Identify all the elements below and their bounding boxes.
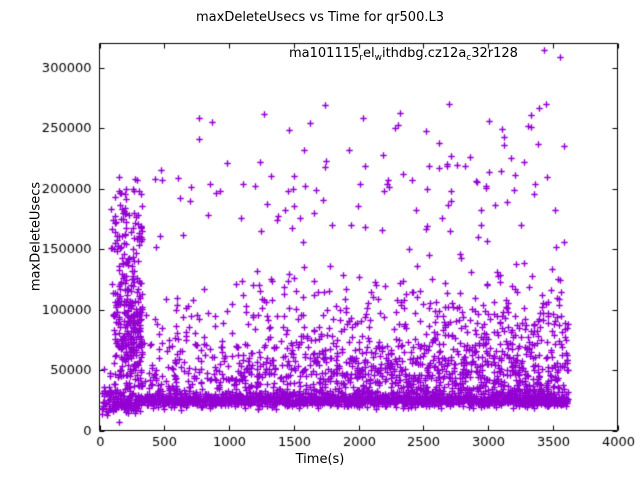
chart-container: maxDeleteUsecs vs Time for qr500.L3 ma10… [0, 0, 640, 480]
scatter-plot-canvas [0, 0, 640, 480]
